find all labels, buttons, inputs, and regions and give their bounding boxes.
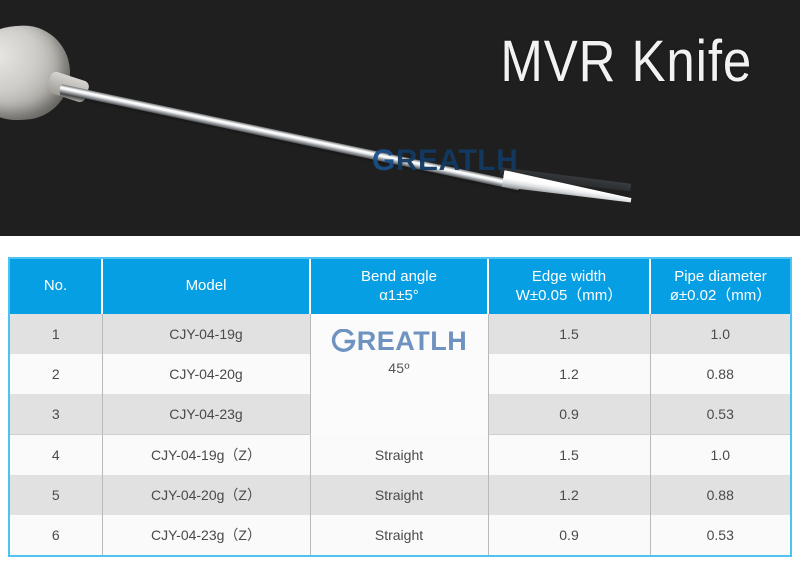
cell-pipe-diameter: 0.53 [650, 515, 790, 555]
cell-pipe-diameter: 0.88 [650, 475, 790, 515]
table-row: 4CJY-04-19g（Z）Straight1.51.0 [10, 435, 790, 476]
greatlh-logo: REATLH [331, 328, 468, 355]
cell-no: 6 [10, 515, 102, 555]
column-header-edge-width: Edge width W±0.05（mm） [488, 259, 650, 314]
spec-table-container: No. Model Bend angle α1±5° Edge width W±… [8, 257, 792, 557]
spec-table-body: 1CJY-04-19gREATLH45º1.51.02CJY-04-20g1.2… [10, 314, 790, 555]
column-header-pipe-diameter-line2: ø±0.02（mm） [651, 287, 790, 306]
hero-watermark-lead: G [372, 144, 396, 177]
table-row: 5CJY-04-20g（Z）Straight1.20.88 [10, 475, 790, 515]
cell-model: CJY-04-23g [102, 394, 310, 435]
cell-edge-width: 1.5 [488, 435, 650, 476]
bend-angle-logo-block: REATLH45º [311, 314, 488, 435]
column-header-pipe-diameter: Pipe diameter ø±0.02（mm） [650, 259, 790, 314]
column-header-bend-angle-line1: Bend angle [361, 268, 437, 285]
cell-no: 4 [10, 435, 102, 476]
cell-edge-width: 0.9 [488, 515, 650, 555]
product-hero-banner: GREATLH MVR Knife [0, 0, 800, 236]
page-title: MVR Knife [500, 28, 752, 95]
cell-no: 1 [10, 314, 102, 354]
column-header-bend-angle-line2: α1±5° [311, 287, 487, 306]
cell-bend-angle-merged: REATLH45º [310, 314, 488, 435]
cell-model: CJY-04-23g（Z） [102, 515, 310, 555]
hero-watermark-rest: REATLH [396, 144, 518, 177]
greatlh-logo-text: REATLH [357, 328, 468, 355]
table-row: 6CJY-04-23g（Z）Straight0.90.53 [10, 515, 790, 555]
table-row: 1CJY-04-19gREATLH45º1.51.0 [10, 314, 790, 354]
cell-model: CJY-04-19g [102, 314, 310, 354]
cell-no: 2 [10, 354, 102, 394]
hero-watermark-logo: GREATLH [372, 144, 518, 178]
column-header-bend-angle: Bend angle α1±5° [310, 259, 488, 314]
cell-pipe-diameter: 1.0 [650, 314, 790, 354]
cell-no: 3 [10, 394, 102, 435]
spec-table-head: No. Model Bend angle α1±5° Edge width W±… [10, 259, 790, 314]
cell-bend-angle: Straight [310, 475, 488, 515]
bend-angle-value: 45º [388, 360, 410, 376]
cell-no: 5 [10, 475, 102, 515]
cell-model: CJY-04-19g（Z） [102, 435, 310, 476]
cell-model: CJY-04-20g（Z） [102, 475, 310, 515]
column-header-pipe-diameter-line1: Pipe diameter [674, 268, 767, 285]
cell-pipe-diameter: 1.0 [650, 435, 790, 476]
column-header-model: Model [102, 259, 310, 314]
cell-bend-angle: Straight [310, 515, 488, 555]
cell-pipe-diameter: 0.88 [650, 354, 790, 394]
cell-edge-width: 0.9 [488, 394, 650, 435]
product-spec-page: GREATLH MVR Knife No. Model Bend angle α… [0, 0, 800, 563]
column-header-no: No. [10, 259, 102, 314]
cell-bend-angle: Straight [310, 435, 488, 476]
column-header-edge-width-line2: W±0.05（mm） [489, 287, 649, 306]
table-header-row: No. Model Bend angle α1±5° Edge width W±… [10, 259, 790, 314]
column-header-edge-width-line1: Edge width [532, 268, 606, 285]
cell-pipe-diameter: 0.53 [650, 394, 790, 435]
cell-model: CJY-04-20g [102, 354, 310, 394]
cell-edge-width: 1.5 [488, 314, 650, 354]
g-ring-icon [331, 329, 356, 354]
cell-edge-width: 1.2 [488, 475, 650, 515]
cell-edge-width: 1.2 [488, 354, 650, 394]
spec-table: No. Model Bend angle α1±5° Edge width W±… [10, 259, 790, 555]
